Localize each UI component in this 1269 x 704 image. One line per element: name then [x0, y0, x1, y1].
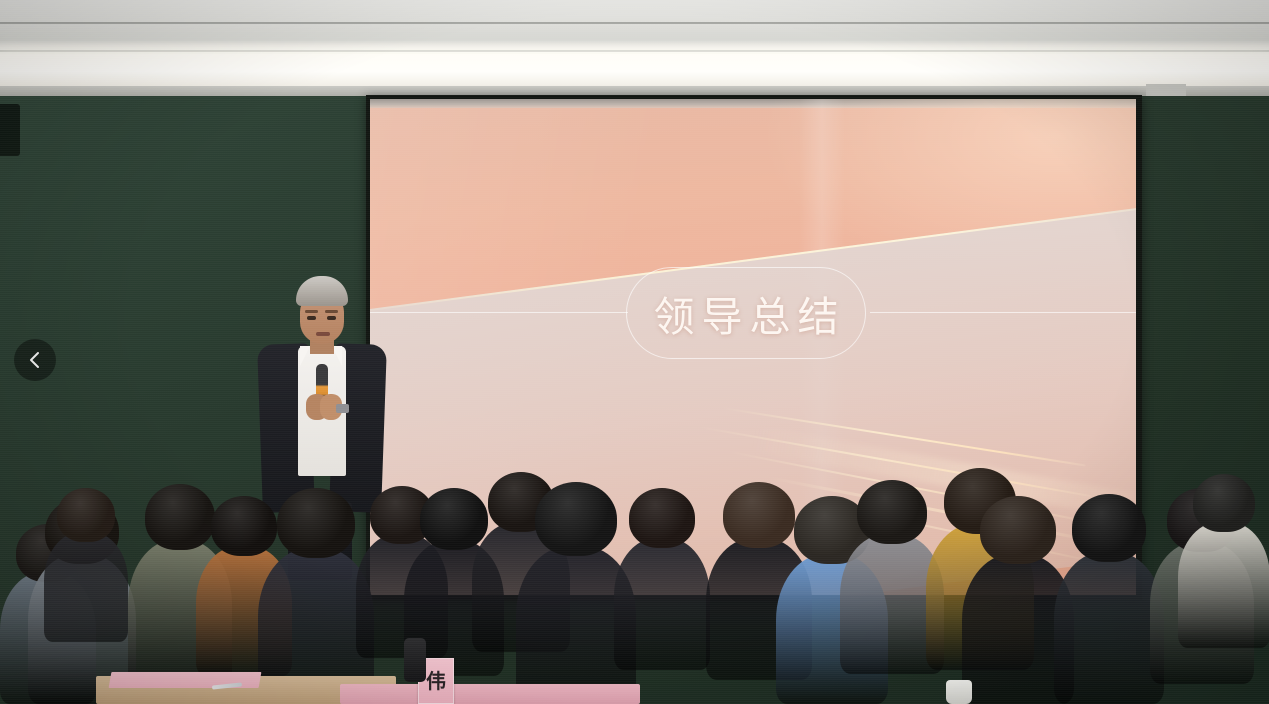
attendee-head: [57, 488, 115, 542]
ceiling: [0, 0, 1269, 100]
presenter-mouth: [316, 332, 330, 336]
attendee-right-5: [1178, 452, 1269, 648]
slide-title: 领导总结: [647, 283, 846, 343]
attendee-head: [980, 496, 1056, 564]
presenter-eyebrow: [305, 310, 318, 313]
attendee-body: [1178, 522, 1269, 648]
attendee-center-6: [614, 468, 710, 670]
water-bottle: [946, 680, 972, 704]
attendee-head: [1072, 494, 1146, 562]
slide-title-pill: 领导总结: [626, 267, 866, 359]
wall-speaker-box: [0, 104, 20, 156]
ceiling-seam: [0, 50, 1269, 52]
presenter-eye: [307, 316, 316, 320]
previous-image-button[interactable]: [14, 339, 56, 381]
attendee-head: [629, 488, 695, 548]
attendee-head: [1193, 474, 1255, 532]
attendee-left-3: [44, 462, 128, 642]
chevron-left-icon: [28, 350, 42, 370]
presenter-hair: [296, 276, 348, 306]
audience-group: [0, 430, 1269, 704]
attendee-head: [857, 480, 927, 544]
presenter-eye: [327, 316, 336, 320]
photo-viewer-stage: 领导总结 伟: [0, 0, 1269, 704]
presenter-eyebrow: [325, 310, 338, 313]
slide-title-rule-left: [370, 312, 628, 313]
thermos: [404, 638, 426, 682]
attendee-body: [1054, 552, 1164, 704]
desk-front-center: [340, 684, 640, 704]
ceiling-light-strip: [0, 54, 1269, 86]
presenter-watch: [336, 404, 349, 413]
attendee-head: [277, 488, 355, 558]
ceiling-seam: [0, 22, 1269, 24]
name-card-text: 伟: [426, 671, 446, 691]
attendee-body: [44, 532, 128, 642]
presenter-collar: [300, 346, 310, 366]
attendee-head: [535, 482, 617, 556]
attendee-body: [614, 538, 710, 670]
slide-title-rule-right: [870, 312, 1136, 313]
attendee-right-3: [1054, 482, 1164, 704]
